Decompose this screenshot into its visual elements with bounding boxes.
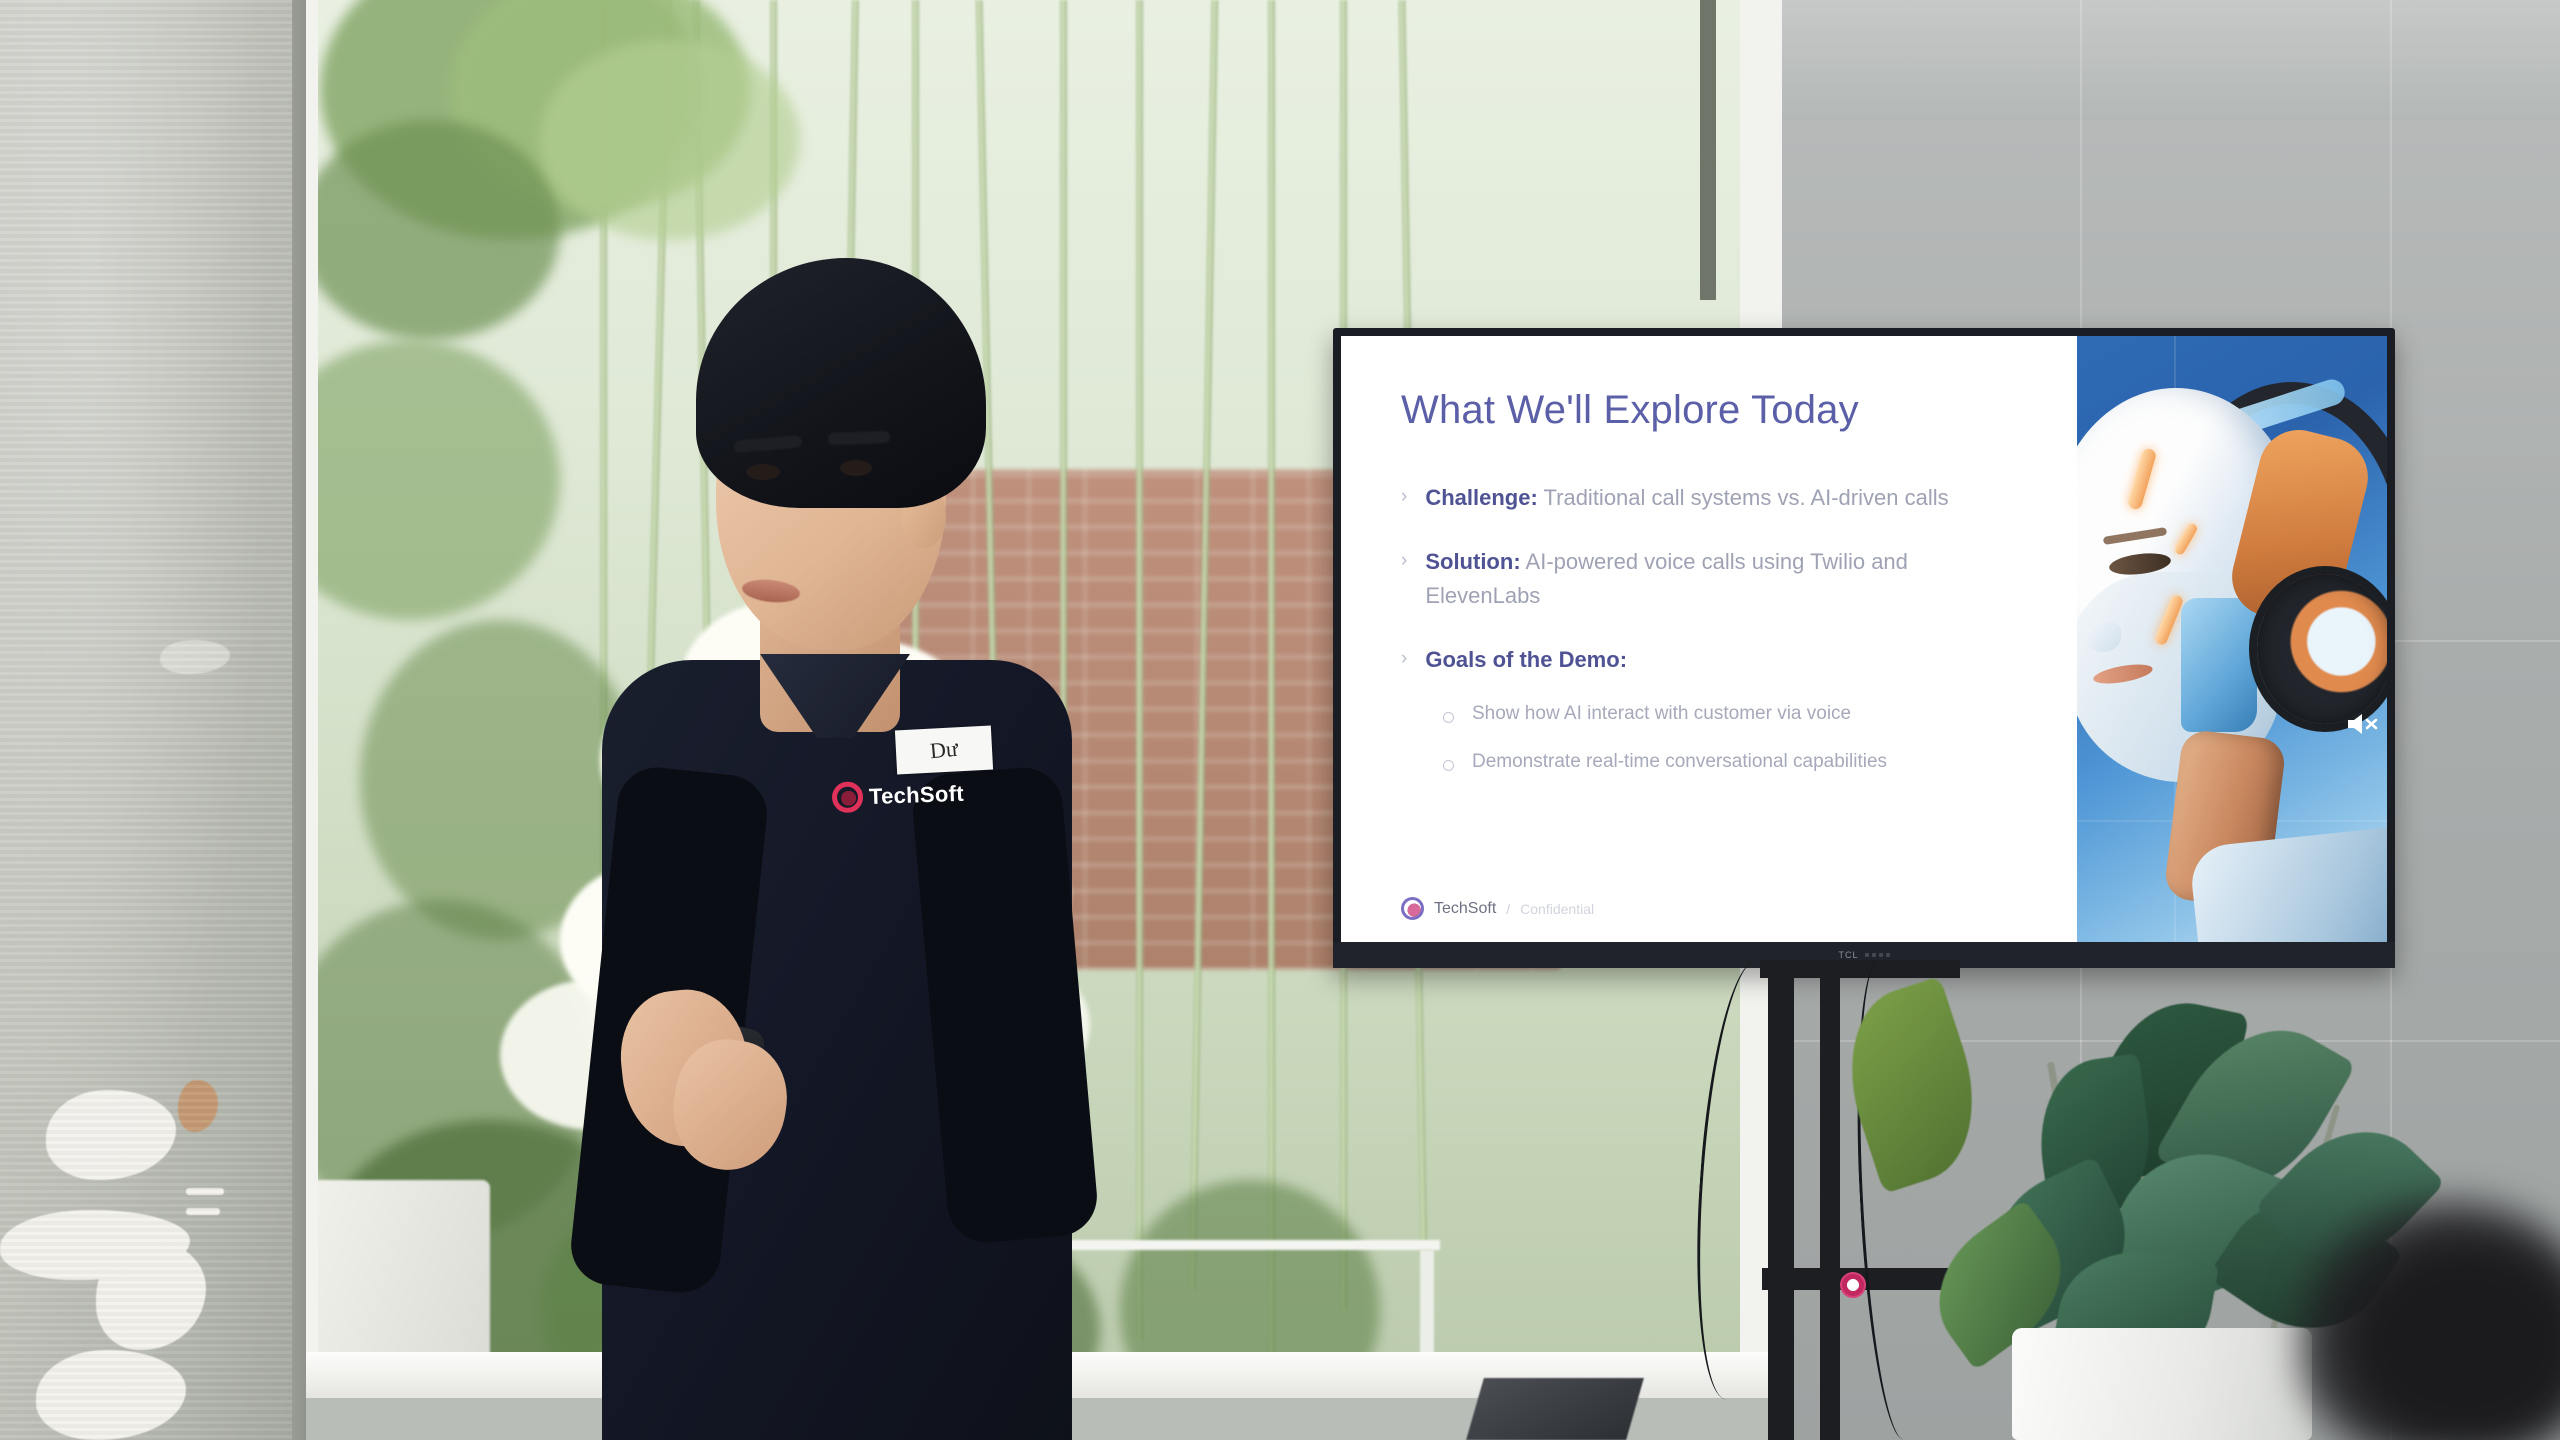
- name-badge: Dư: [895, 726, 993, 775]
- bullet-label: Goals of the Demo: [1425, 647, 1619, 672]
- bullet-item-challenge: › Challenge: Traditional call systems vs…: [1401, 481, 2021, 515]
- slide-bullet-list: › Challenge: Traditional call systems vs…: [1401, 481, 2021, 773]
- circle-bullet-icon: [1443, 760, 1454, 771]
- bullet-separator: :: [1530, 485, 1537, 510]
- outdoor-planter: [300, 1180, 490, 1360]
- presenter: Dư TechSoft: [510, 250, 1130, 1440]
- sub-bullet-item: Show how AI interact with customer via v…: [1443, 703, 2021, 725]
- eye-left: [746, 464, 780, 480]
- footer-brand: TechSoft: [1434, 900, 1496, 918]
- footer-separator: /: [1506, 901, 1510, 917]
- bullet-text: Traditional call systems vs. AI-driven c…: [1544, 485, 1949, 510]
- bullet-item-solution: › Solution: AI-powered voice calls using…: [1401, 545, 2021, 613]
- eyebrow-right: [828, 431, 890, 445]
- presentation-room-photo: What We'll Explore Today › Challenge: Tr…: [0, 0, 2560, 1440]
- slide-robot-image: [2077, 336, 2387, 942]
- plant-pot: [2012, 1328, 2312, 1440]
- name-badge-text: Dư: [929, 736, 959, 764]
- circle-bullet-icon: [1443, 712, 1454, 723]
- slide-title: What We'll Explore Today: [1401, 388, 2077, 433]
- slide-sub-bullet-list: Show how AI interact with customer via v…: [1443, 703, 2021, 773]
- robot-nose: [2085, 622, 2121, 652]
- bullet-separator: :: [1513, 549, 1520, 574]
- sub-bullet-text: Show how AI interact with customer via v…: [1472, 703, 1851, 725]
- pillar-edge: [292, 0, 306, 1440]
- wall-upper-strip: [1770, 0, 2560, 120]
- robot-cheek-plate: [2181, 598, 2257, 732]
- shirt-logo-text: TechSoft: [869, 780, 965, 809]
- slide-footer: TechSoft / Confidential: [1401, 897, 1594, 920]
- chevron-right-icon: ›: [1401, 643, 1407, 677]
- chevron-right-icon: ›: [1401, 481, 1407, 515]
- window-frame-top: [1700, 0, 1716, 300]
- laptop: [1466, 1378, 1644, 1440]
- techsoft-ring-icon: [831, 781, 863, 813]
- concrete-pillar: [0, 0, 300, 1440]
- stand-logo-badge: [1840, 1272, 1866, 1298]
- shirt-logo: TechSoft: [831, 778, 964, 814]
- sub-bullet-item: Demonstrate real-time conversational cap…: [1443, 751, 2021, 773]
- bullet-label: Solution: [1425, 549, 1513, 574]
- tv-stand-crossbar-top: [1760, 960, 1960, 978]
- presentation-display[interactable]: What We'll Explore Today › Challenge: Tr…: [1333, 328, 2395, 968]
- slide-content: What We'll Explore Today › Challenge: Tr…: [1341, 336, 2077, 942]
- tv-brand-label: TCL: [1838, 950, 1858, 960]
- bullet-label: Challenge: [1425, 485, 1530, 510]
- tv-indicator-leds: [1865, 953, 1890, 957]
- techsoft-ring-icon: [1401, 897, 1424, 920]
- bullet-item-goals: › Goals of the Demo: Show how AI interac…: [1401, 643, 2021, 773]
- footer-classification: Confidential: [1520, 901, 1594, 917]
- headphone-earcup: [2257, 574, 2387, 724]
- speaker-muted-icon: [2345, 710, 2379, 738]
- bullet-separator: :: [1620, 647, 1627, 672]
- tv-stand-right-post: [1820, 968, 1840, 1440]
- chevron-right-icon: ›: [1401, 545, 1407, 613]
- eye-right: [840, 460, 872, 476]
- tv-screen: What We'll Explore Today › Challenge: Tr…: [1341, 336, 2387, 942]
- sub-bullet-text: Demonstrate real-time conversational cap…: [1472, 751, 1887, 773]
